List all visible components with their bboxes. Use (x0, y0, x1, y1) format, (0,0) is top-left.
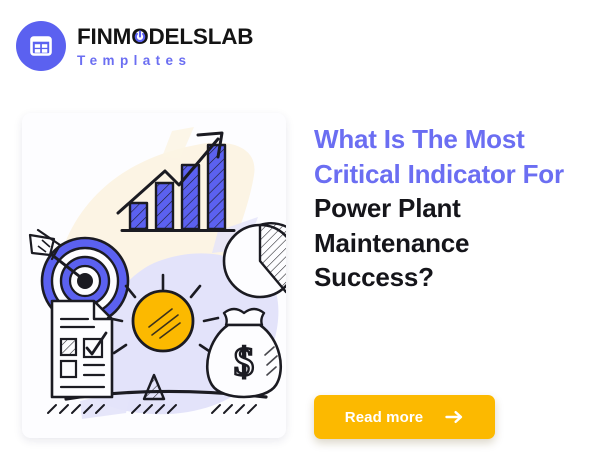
wordmark-part-1: FINM (77, 26, 131, 49)
checklist-document (52, 301, 112, 397)
illustration-card[interactable]: $ (22, 113, 286, 438)
read-more-label: Read more (345, 409, 423, 426)
arrow-right-icon (445, 410, 464, 424)
read-more-button[interactable]: Read more (314, 395, 495, 439)
wordmark-part-2: DELSLAB (149, 26, 254, 49)
brand-text: FINMO DELSLAB Templates (77, 25, 253, 68)
headline-accent-line-2: Critical Indicator For (314, 157, 590, 192)
business-analytics-illustration: $ (22, 113, 286, 438)
brand-logo[interactable]: FINMO DELSLAB Templates (16, 21, 253, 71)
brand-tagline: Templates (77, 54, 253, 68)
brand-wordmark: FINMO DELSLAB (77, 25, 253, 49)
grid-table-icon (16, 21, 66, 71)
wordmark-o-letter: O (131, 24, 148, 49)
svg-text:$: $ (234, 339, 254, 384)
headline-main-line-2: Maintenance (314, 226, 590, 261)
headline-block: What Is The Most Critical Indicator For … (314, 122, 590, 295)
wordmark-o-with-power-icon: O (131, 26, 148, 49)
headline-main-line-3: Success? (314, 260, 590, 295)
headline-accent-line-1: What Is The Most (314, 122, 590, 157)
page-title: What Is The Most Critical Indicator For … (314, 122, 590, 295)
headline-main-line-1: Power Plant (314, 191, 590, 226)
